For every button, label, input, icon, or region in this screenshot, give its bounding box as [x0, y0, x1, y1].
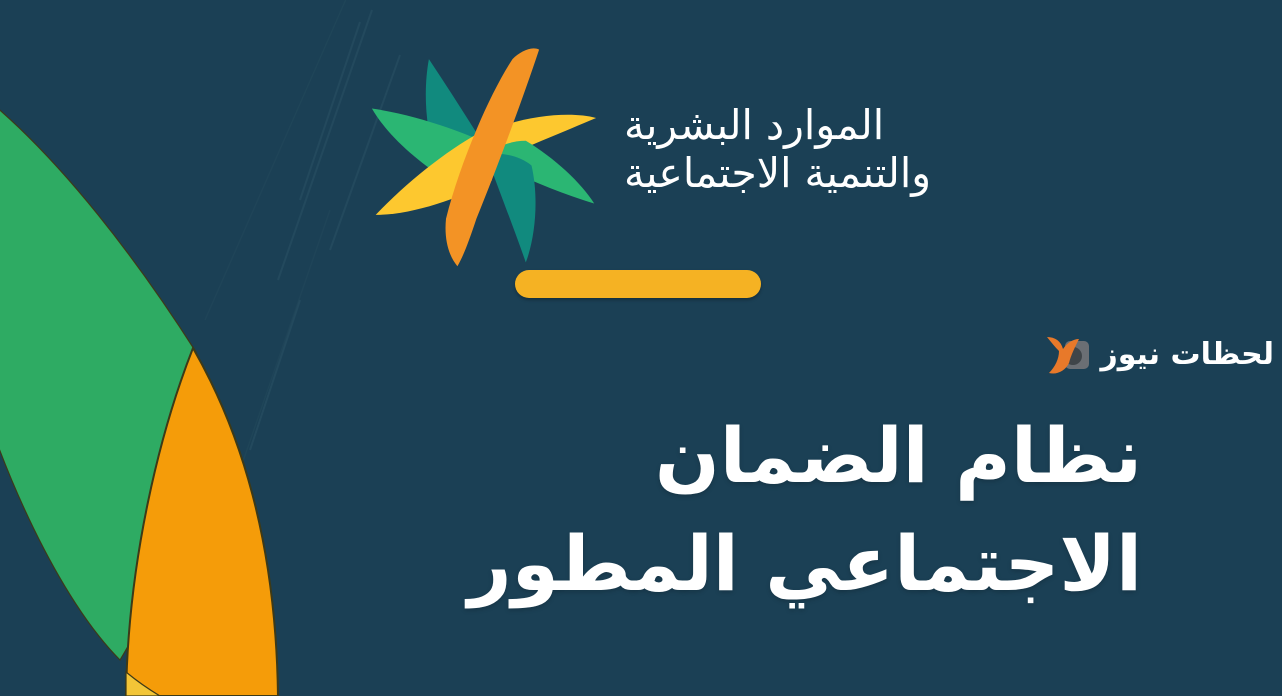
- page-title: نظام الضمان الاجتماعي المطور: [522, 402, 1142, 618]
- accent-divider-bar: [515, 270, 761, 298]
- orange-leaf-shape: [126, 348, 278, 696]
- yellow-sliver-shape: [126, 672, 160, 696]
- hrsd-star-logo-icon: [370, 42, 598, 270]
- ministry-name: الموارد البشرية والتنمية الاجتماعية: [624, 46, 1010, 197]
- brand-lockup: الموارد البشرية والتنمية الاجتماعية: [370, 46, 1010, 276]
- ministry-name-line1: الموارد البشرية: [624, 102, 884, 150]
- promo-banner: الموارد البشرية والتنمية الاجتماعية نظام…: [0, 0, 1282, 696]
- ministry-name-line2: والتنمية الاجتماعية: [624, 150, 931, 198]
- headline-line-2: الاجتماعي المطور: [522, 510, 1142, 618]
- site-watermark: لحظات نيوز: [1041, 326, 1274, 382]
- headline-line-1: نظام الضمان: [522, 402, 1142, 510]
- camera-badge-icon: [1041, 329, 1093, 379]
- watermark-text: لحظات نيوز: [1100, 337, 1274, 372]
